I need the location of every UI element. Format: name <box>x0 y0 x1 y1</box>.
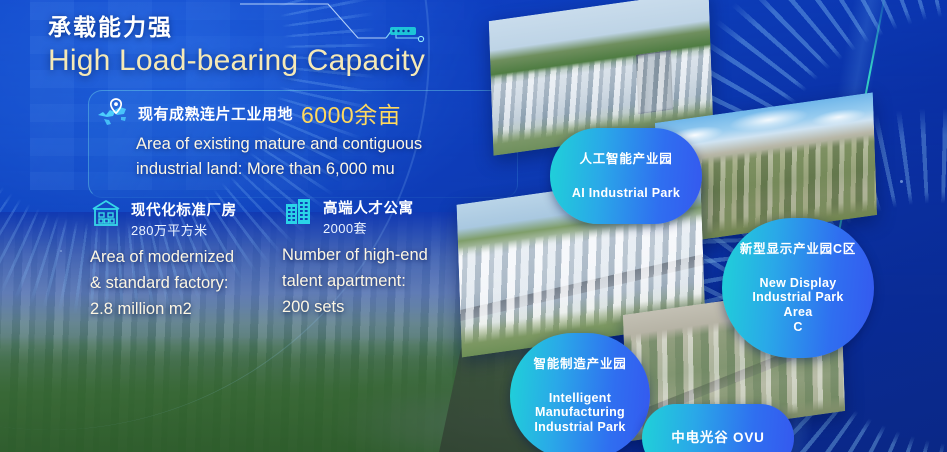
apartment-value-cn: 2000套 <box>323 221 367 236</box>
apartment-label-cn: 高端人才公寓 <box>323 201 414 217</box>
slide-stage: 承载能力强 High Load-bearing Capacity <box>0 0 947 452</box>
photo-detail-tower <box>636 50 673 114</box>
hero-value-cn: 6000余亩 <box>301 96 401 130</box>
world-map-location-pin-icon <box>96 98 130 128</box>
caption-cn: 智能制造产业园 <box>526 357 634 372</box>
stat-existing-industrial-land: 现有成熟连片工业用地 6000余亩 Area of existing matur… <box>96 96 536 182</box>
caption-en: AI Industrial Park <box>566 186 686 201</box>
hero-label-en-line1: Area of existing mature and contiguous <box>136 132 536 157</box>
factory-label-en-line2: & standard factory: <box>90 270 305 296</box>
factory-icon <box>90 198 122 228</box>
photo-caption-ovu[interactable]: 中电光谷 OVU <box>642 404 794 452</box>
apartment-building-icon <box>282 196 314 226</box>
caption-cn: 新型显示产业园C区 <box>738 242 858 257</box>
stat-modern-standard-factory: 现代化标准厂房 280万平方米 Area of modernized & sta… <box>90 198 305 322</box>
hero-label-en-line2: industrial land: More than 6,000 mu <box>136 157 536 182</box>
factory-value-cn: 280万平方米 <box>131 223 208 238</box>
photo-caption-new-display-industrial-park-area-c[interactable]: 新型显示产业园C区 New Display Industrial Park Ar… <box>722 218 874 358</box>
photo-caption-intelligent-manufacturing-industrial-park[interactable]: 智能制造产业园 Intelligent Manufacturing Indust… <box>510 333 650 452</box>
decorative-tech-line <box>240 0 430 52</box>
caption-cn: 中电光谷 OVU <box>658 430 778 446</box>
factory-label-en-line3: 2.8 million m2 <box>90 296 305 322</box>
caption-en: Intelligent Manufacturing Industrial Par… <box>526 391 634 435</box>
factory-label-cn: 现代化标准厂房 <box>131 203 237 219</box>
factory-label-en-line1: Area of modernized <box>90 244 305 270</box>
photo-collage: 人工智能产业园 AI Industrial Park 新型显示产业园C区 New… <box>500 0 947 452</box>
caption-cn: 人工智能产业园 <box>566 152 686 167</box>
hero-label-cn: 现有成熟连片工业用地 <box>138 103 293 124</box>
particle-dot <box>60 250 62 252</box>
caption-en: New Display Industrial Park Area C <box>738 276 858 335</box>
photo-caption-ai-industrial-park[interactable]: 人工智能产业园 AI Industrial Park <box>550 128 702 224</box>
